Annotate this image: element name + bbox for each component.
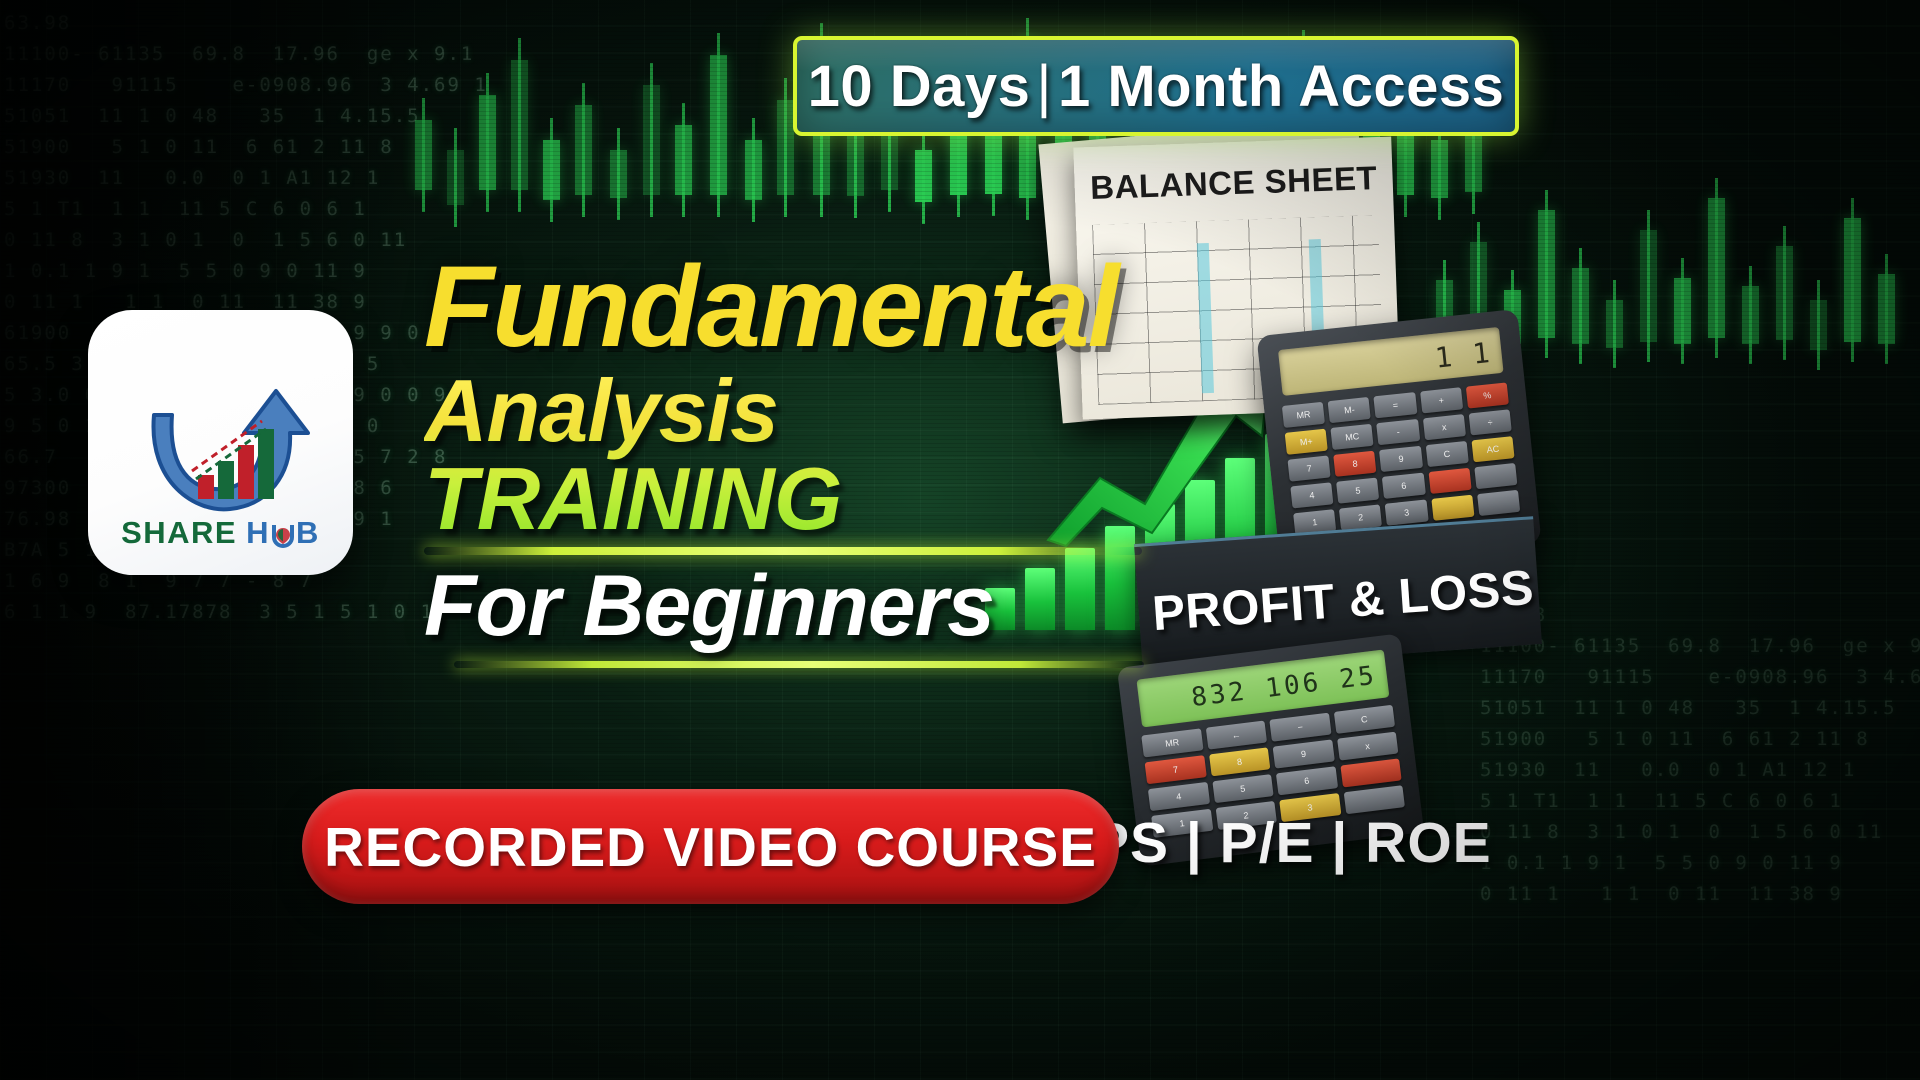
badge-duration: 10 Days — [808, 54, 1031, 119]
logo-text-hub: H B — [246, 515, 320, 551]
headline-divider-2 — [454, 661, 1144, 668]
logo-text-b: B — [296, 515, 320, 551]
badge-separator: | — [1030, 54, 1058, 119]
promo-banner: 63.98 11100- 61135 69.8 17.96 ge x 9.1 1… — [0, 0, 1920, 1080]
headline-line-3: For Beginners — [424, 563, 1154, 649]
headline-line-2: Analysis TRAINING — [424, 367, 1154, 543]
logo-text-h: H — [246, 515, 270, 551]
logo-wordmark: SHARE H B — [121, 515, 320, 551]
recorded-video-course-button[interactable]: RECORDED VIDEO COURSE — [302, 789, 1119, 904]
headline-block: Fundamental Analysis TRAINING For Beginn… — [424, 255, 1154, 668]
logo-mark — [126, 363, 316, 513]
badge-access: 1 Month Access — [1058, 54, 1504, 119]
logo-u-glyph-icon — [270, 520, 296, 546]
headline-line-1: Fundamental — [424, 255, 1154, 361]
access-badge-text: 10 Days|1 Month Access — [808, 53, 1505, 120]
cta-label: RECORDED VIDEO COURSE — [324, 815, 1097, 879]
share-hub-logo-card[interactable]: SHARE H B — [88, 310, 353, 575]
access-badge: 10 Days|1 Month Access — [793, 36, 1519, 136]
growth-arrow-bar-icon — [126, 363, 316, 513]
headline-divider-1 — [424, 547, 1142, 555]
logo-text-share: SHARE — [121, 515, 237, 551]
